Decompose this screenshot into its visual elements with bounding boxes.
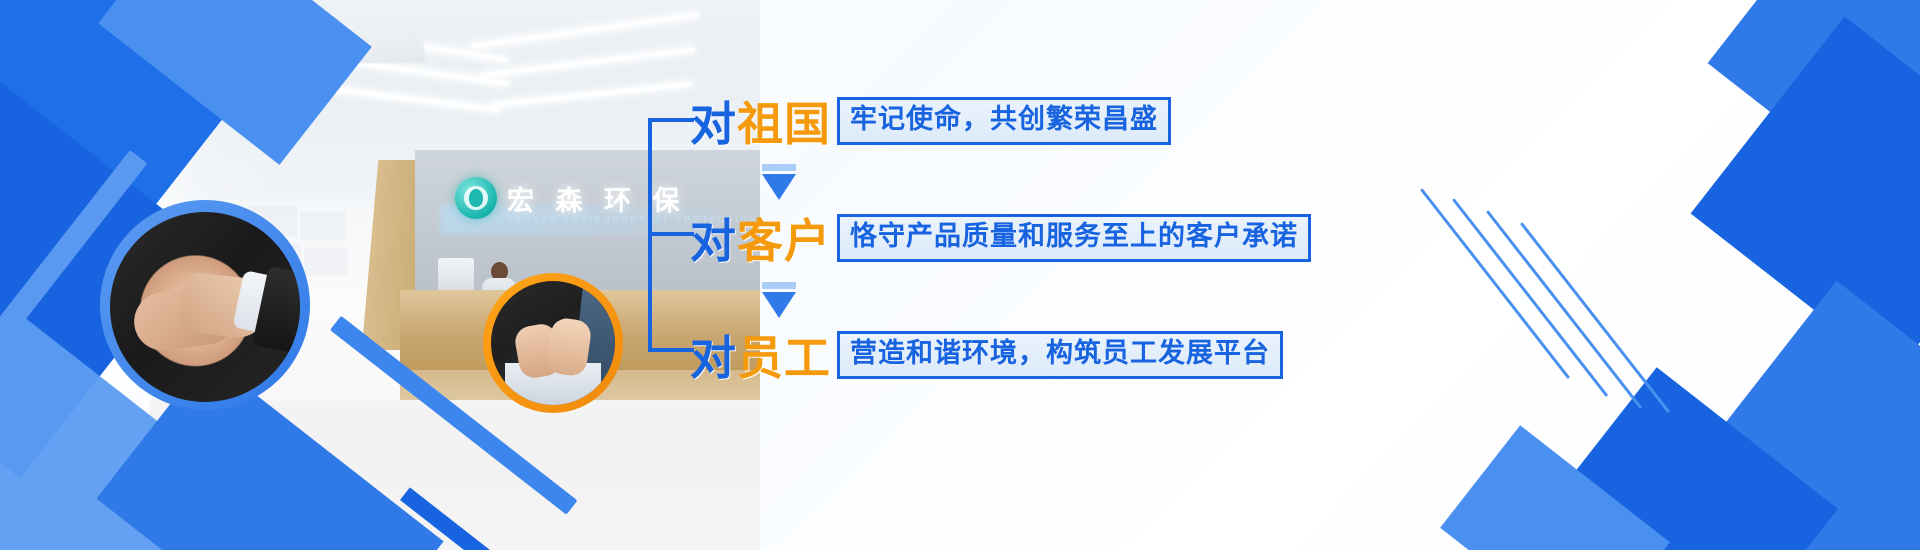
value-label-country: 对 祖国	[690, 88, 831, 154]
decor-thin-line	[1452, 198, 1608, 397]
decor-thin-line	[1486, 210, 1642, 409]
handshake-photo	[110, 212, 300, 402]
bracket-arm	[648, 348, 694, 352]
globe-leaf-icon	[455, 177, 497, 219]
arrow-cap	[762, 164, 796, 171]
value-label-customer: 对 客户	[690, 205, 831, 271]
value-target: 员工	[737, 322, 831, 388]
arrow-cap	[762, 282, 796, 289]
value-statement-customer: 恪守产品质量和服务至上的客户承诺	[837, 214, 1311, 262]
value-statement-country: 牢记使命，共创繁荣昌盛	[837, 97, 1171, 145]
company-values-banner: 宏 森 环 保 HONGSEN ENVIRONMENTAL PROTECTION	[0, 0, 1920, 550]
value-statement-employee: 营造和谐环境，构筑员工发展平台	[837, 331, 1283, 379]
values-diagram: 对 祖国 牢记使命，共创繁荣昌盛 对 客户 恪守产品质量和服务至上的客户承诺 对…	[648, 60, 1408, 400]
decor-thin-line	[1520, 222, 1670, 413]
arrow-down-icon	[762, 174, 796, 200]
value-target: 客户	[737, 205, 831, 271]
desk-monitor	[438, 258, 474, 292]
value-prefix: 对	[690, 322, 737, 388]
value-label-employee: 对 员工	[690, 322, 831, 388]
value-prefix: 对	[690, 88, 737, 154]
photo-collage: 宏 森 环 保 HONGSEN ENVIRONMENTAL PROTECTION	[0, 0, 760, 550]
decor-thin-line	[1420, 188, 1570, 379]
arrow-down-icon	[762, 292, 796, 318]
value-row-customer: 对 客户 恪守产品质量和服务至上的客户承诺	[690, 205, 1311, 271]
bracket-arm	[648, 232, 694, 236]
value-prefix: 对	[690, 205, 737, 271]
value-row-employee: 对 员工 营造和谐环境，构筑员工发展平台	[690, 322, 1283, 388]
applause-photo	[491, 281, 615, 405]
value-row-country: 对 祖国 牢记使命，共创繁荣昌盛	[690, 88, 1171, 154]
value-target: 祖国	[737, 88, 831, 154]
bracket-arm	[648, 118, 694, 122]
